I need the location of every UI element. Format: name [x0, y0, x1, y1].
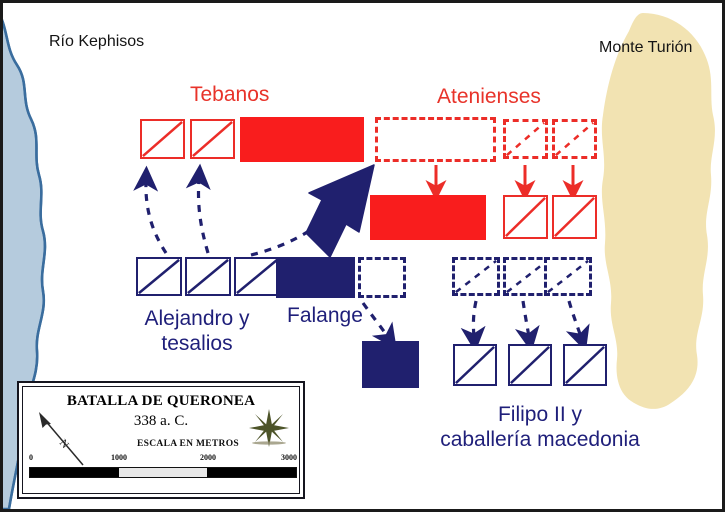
- unit-phalanx-block: [276, 257, 355, 298]
- scale-tick-1000: 1000: [111, 453, 127, 462]
- unit-athenian-cavalry-ghost-1: [503, 119, 548, 159]
- cavalry-slash-icon: [554, 197, 595, 237]
- cavalry-slash-icon: [187, 259, 229, 294]
- unit-athenian-cavalry-ghost-2: [552, 119, 597, 159]
- cavalry-slash-icon: [510, 346, 550, 384]
- cavalry-slash-icon: [455, 260, 497, 293]
- phalanx-label: Falange: [287, 304, 363, 329]
- scale-tick-0: 0: [29, 453, 33, 462]
- cavalry-slash-icon: [555, 122, 594, 156]
- unit-thessalian-cavalry-2: [185, 257, 231, 296]
- cavalry-slash-icon: [505, 197, 546, 237]
- cavalry-slash-icon: [506, 122, 545, 156]
- unit-thessalian-cavalry-3: [234, 257, 280, 296]
- unit-athenian-infantry: [370, 195, 486, 240]
- unit-athenian-cavalry-1: [503, 195, 548, 239]
- athenians-label: Atenienses: [437, 85, 541, 110]
- unit-phalanx-advanced: [362, 341, 419, 388]
- legend-box: BATALLA DE QUERONEA 338 a. C. N: [17, 381, 305, 499]
- cavalry-slash-icon: [142, 121, 183, 157]
- scale-bar: [29, 467, 297, 478]
- unit-theban-cavalry-1: [140, 119, 185, 159]
- cavalry-slash-icon: [236, 259, 278, 294]
- unit-athenian-cavalry-2: [552, 195, 597, 239]
- unit-macedon-cavalry-ghost-3: [544, 257, 592, 296]
- cavalry-slash-icon: [565, 346, 605, 384]
- scale-tick-3000: 3000: [281, 453, 297, 462]
- cavalry-slash-icon: [506, 260, 548, 293]
- unit-macedon-cavalry-1: [453, 344, 497, 386]
- unit-macedon-cavalry-ghost-1: [452, 257, 500, 296]
- unit-macedon-cavalry-3: [563, 344, 607, 386]
- scale-tick-2000: 2000: [200, 453, 216, 462]
- unit-thessalian-cavalry-1: [136, 257, 182, 296]
- scale-title: ESCALA EN METROS: [83, 439, 293, 449]
- mountain-label: Monte Turión: [599, 39, 692, 58]
- river-label: Río Kephisos: [49, 33, 144, 52]
- legend-inner-frame: BATALLA DE QUERONEA 338 a. C. N: [22, 386, 300, 494]
- alexander-thessalians-label: Alejandro y tesalios: [135, 307, 259, 357]
- unit-theban-infantry: [240, 117, 364, 162]
- unit-macedon-cavalry-2: [508, 344, 552, 386]
- cavalry-slash-icon: [138, 259, 180, 294]
- thebans-label: Tebanos: [190, 83, 269, 108]
- unit-phalanx-ghost: [358, 257, 406, 298]
- cavalry-slash-icon: [455, 346, 495, 384]
- battle-map: Río Kephisos Monte Turión Tebanos Atenie…: [0, 0, 725, 512]
- unit-theban-cavalry-2: [190, 119, 235, 159]
- unit-athenian-infantry-ghost: [375, 117, 496, 162]
- scale-tick-labels: 0 1000 2000 3000: [29, 453, 293, 464]
- cavalry-slash-icon: [547, 260, 589, 293]
- philip-cavalry-label: Filipo II y caballería macedonia: [415, 403, 665, 453]
- cavalry-slash-icon: [192, 121, 233, 157]
